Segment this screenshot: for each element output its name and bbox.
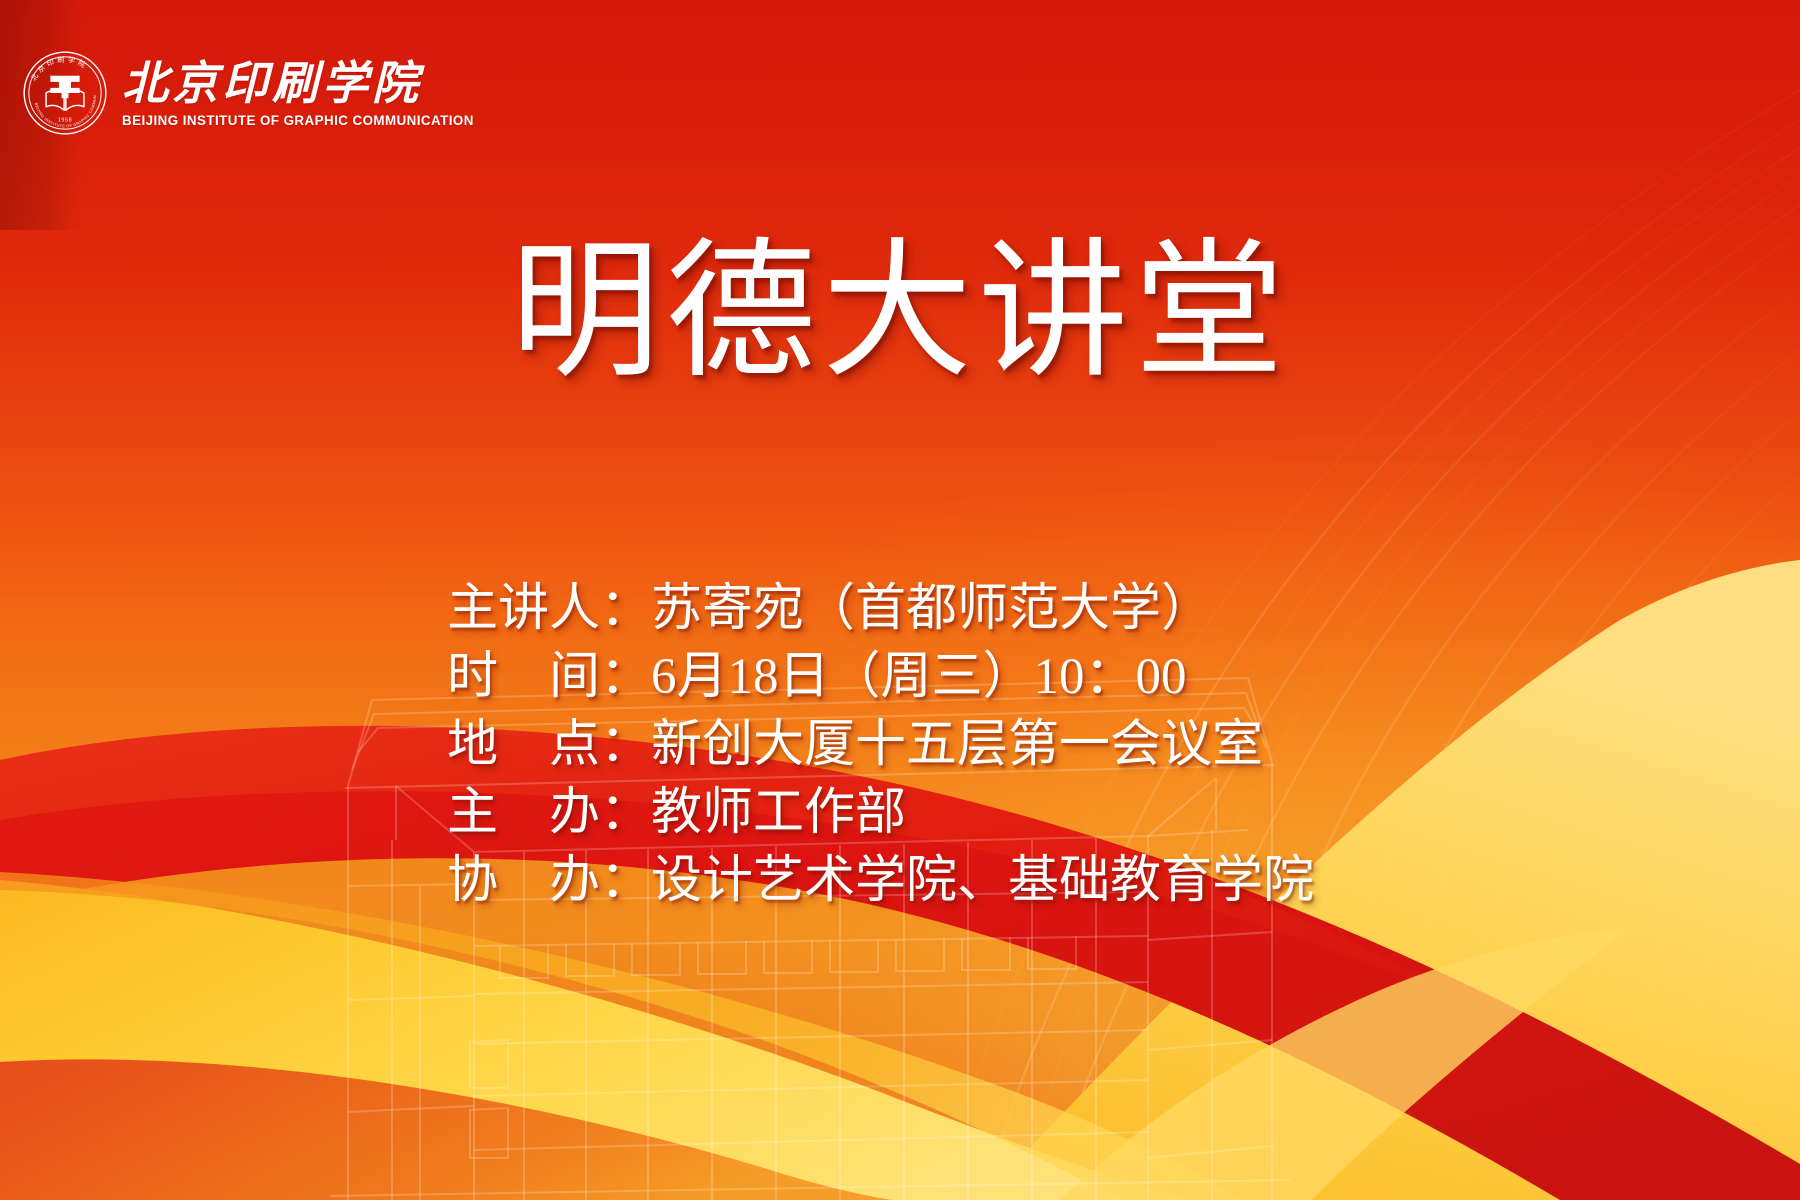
university-wordmark: 北京印刷学院 BEIJING INSTITUTE OF GRAPHIC COMM… <box>122 59 477 128</box>
university-seal-icon: 北京印刷学院 BEIJING INSTITUTE OF GRAPHIC COMM… <box>22 50 108 136</box>
seal-year-text: 1958 <box>58 117 73 123</box>
university-name-en: BEIJING INSTITUTE OF GRAPHIC COMMUNICATI… <box>122 113 474 128</box>
university-logo: 北京印刷学院 BEIJING INSTITUTE OF GRAPHIC COMM… <box>22 50 477 136</box>
poster-canvas: 北京印刷学院 BEIJING INSTITUTE OF GRAPHIC COMM… <box>0 0 1800 1200</box>
detail-line-coorganizer: 协 办：设计艺术学院、基础教育学院 <box>447 847 1367 915</box>
detail-line-speaker: 主讲人：苏寄宛（首都师范大学） <box>447 575 1367 643</box>
detail-line-organizer: 主 办：教师工作部 <box>447 779 1367 847</box>
detail-line-location: 地 点：新创大厦十五层第一会议室 <box>447 711 1367 779</box>
university-name-cn: 北京印刷学院 <box>122 59 477 111</box>
detail-line-time: 时 间：6月18日（周三）10：00 <box>447 643 1367 711</box>
event-details-block: 主讲人：苏寄宛（首都师范大学） 时 间：6月18日（周三）10：00 地 点：新… <box>447 575 1367 915</box>
page-title: 明德大讲堂 <box>0 238 1800 388</box>
